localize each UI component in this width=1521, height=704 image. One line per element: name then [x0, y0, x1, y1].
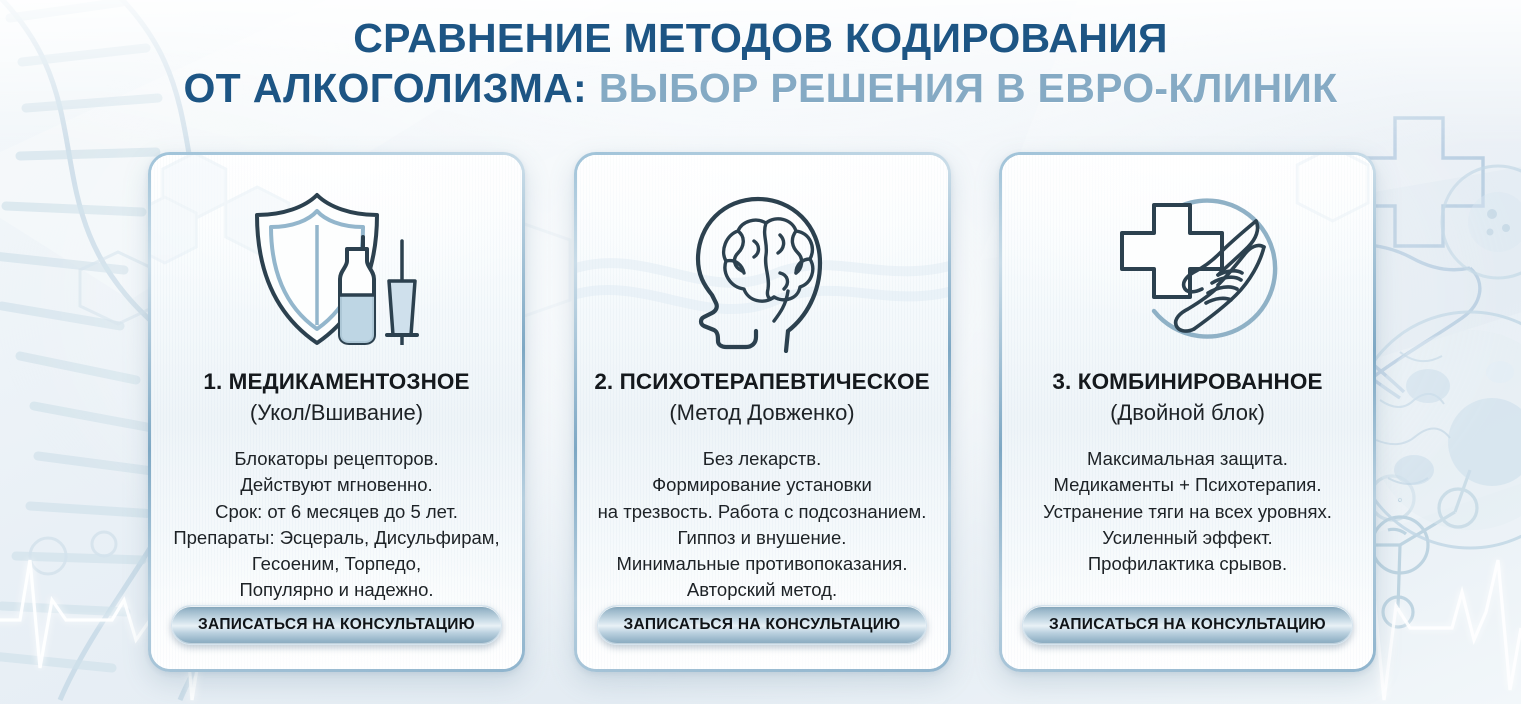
card-description-line: Усиленный эффект. [1043, 525, 1332, 551]
card-description-line: Максимальная защита. [1043, 446, 1332, 472]
card-subtitle: (Укол/Вшивание) [250, 400, 423, 426]
cell-diagram-motif-top [1442, 166, 1521, 278]
method-card-medication[interactable]: 1. МЕДИКАМЕНТОЗНОЕ (Укол/Вшивание) Блока… [148, 152, 525, 672]
card-description-line: Гиппоз и внушение. [598, 525, 927, 551]
card-description-line: Формирование установки [598, 472, 927, 498]
card-description-line: Блокаторы рецепторов. [173, 446, 499, 472]
infographic-canvas: СРАВНЕНИЕ МЕТОДОВ КОДИРОВАНИЯ ОТ АЛКОГОЛ… [0, 0, 1521, 704]
shield-ampoule-syringe-icon [165, 169, 508, 369]
card-description-line: Авторский метод. [598, 577, 927, 603]
card-description: Максимальная защита. Медикаменты + Психо… [1043, 446, 1332, 605]
book-consultation-button[interactable]: ЗАПИСАТЬСЯ НА КОНСУЛЬТАЦИЮ [1022, 605, 1353, 645]
card-description-line: Без лекарств. [598, 446, 927, 472]
book-consultation-button[interactable]: ЗАПИСАТЬСЯ НА КОНСУЛЬТАЦИЮ [171, 605, 502, 645]
page-title-line-1: СРАВНЕНИЕ МЕТОДОВ КОДИРОВАНИЯ [0, 16, 1521, 62]
card-description-line: Профилактика срывов. [1043, 551, 1332, 577]
card-description-line: Гесоеним, Торпедо, [173, 551, 499, 577]
page-header: СРАВНЕНИЕ МЕТОДОВ КОДИРОВАНИЯ ОТ АЛКОГОЛ… [0, 16, 1521, 112]
cross-helping-hands-icon [1016, 169, 1359, 369]
page-title-line-2-dark: ОТ АЛКОГОЛИЗМА: [183, 65, 587, 111]
card-description-line: Срок: от 6 месяцев до 5 лет. [173, 499, 499, 525]
method-cards-container: 1. МЕДИКАМЕНТОЗНОЕ (Укол/Вшивание) Блока… [148, 152, 1376, 672]
card-description-line: Популярно и надежно. [173, 577, 499, 603]
card-description: Блокаторы рецепторов. Действуют мгновенн… [173, 446, 499, 605]
cell-diagram-motif [1352, 312, 1521, 548]
book-consultation-button[interactable]: ЗАПИСАТЬСЯ НА КОНСУЛЬТАЦИЮ [597, 605, 928, 645]
card-title: 2. ПСИХОТЕРАПЕВТИЧЕСКОЕ [594, 369, 929, 395]
card-description: Без лекарств. Формирование установки на … [598, 446, 927, 605]
page-title-line-2-light: ВЫБОР РЕШЕНИЯ В ЕВРО-КЛИНИК [599, 65, 1338, 111]
method-card-combined[interactable]: 3. КОМБИНИРОВАННОЕ (Двойной блок) Максим… [999, 152, 1376, 672]
card-description-line: Медикаменты + Психотерапия. [1043, 472, 1332, 498]
card-subtitle: (Метод Довженко) [669, 400, 854, 426]
card-description-line: Устранение тяги на всех уровнях. [1043, 499, 1332, 525]
card-description-line: Минимальные противопоказания. [598, 551, 927, 577]
card-title: 1. МЕДИКАМЕНТОЗНОЕ [203, 369, 469, 395]
card-description-line: на трезвость. Работа с подсознанием. [598, 499, 927, 525]
card-subtitle: (Двойной блок) [1110, 400, 1265, 426]
card-title: 3. КОМБИНИРОВАННОЕ [1052, 369, 1322, 395]
page-title-line-2: ОТ АЛКОГОЛИЗМА: ВЫБОР РЕШЕНИЯ В ЕВРО-КЛИ… [0, 66, 1521, 112]
card-description-line: Действуют мгновенно. [173, 472, 499, 498]
method-card-psychotherapy[interactable]: 2. ПСИХОТЕРАПЕВТИЧЕСКОЕ (Метод Довженко)… [574, 152, 951, 672]
head-brain-icon [591, 169, 934, 369]
bubble-motif [30, 532, 167, 574]
card-description-line: Препараты: Эсцераль, Дисульфирам, [173, 525, 499, 551]
